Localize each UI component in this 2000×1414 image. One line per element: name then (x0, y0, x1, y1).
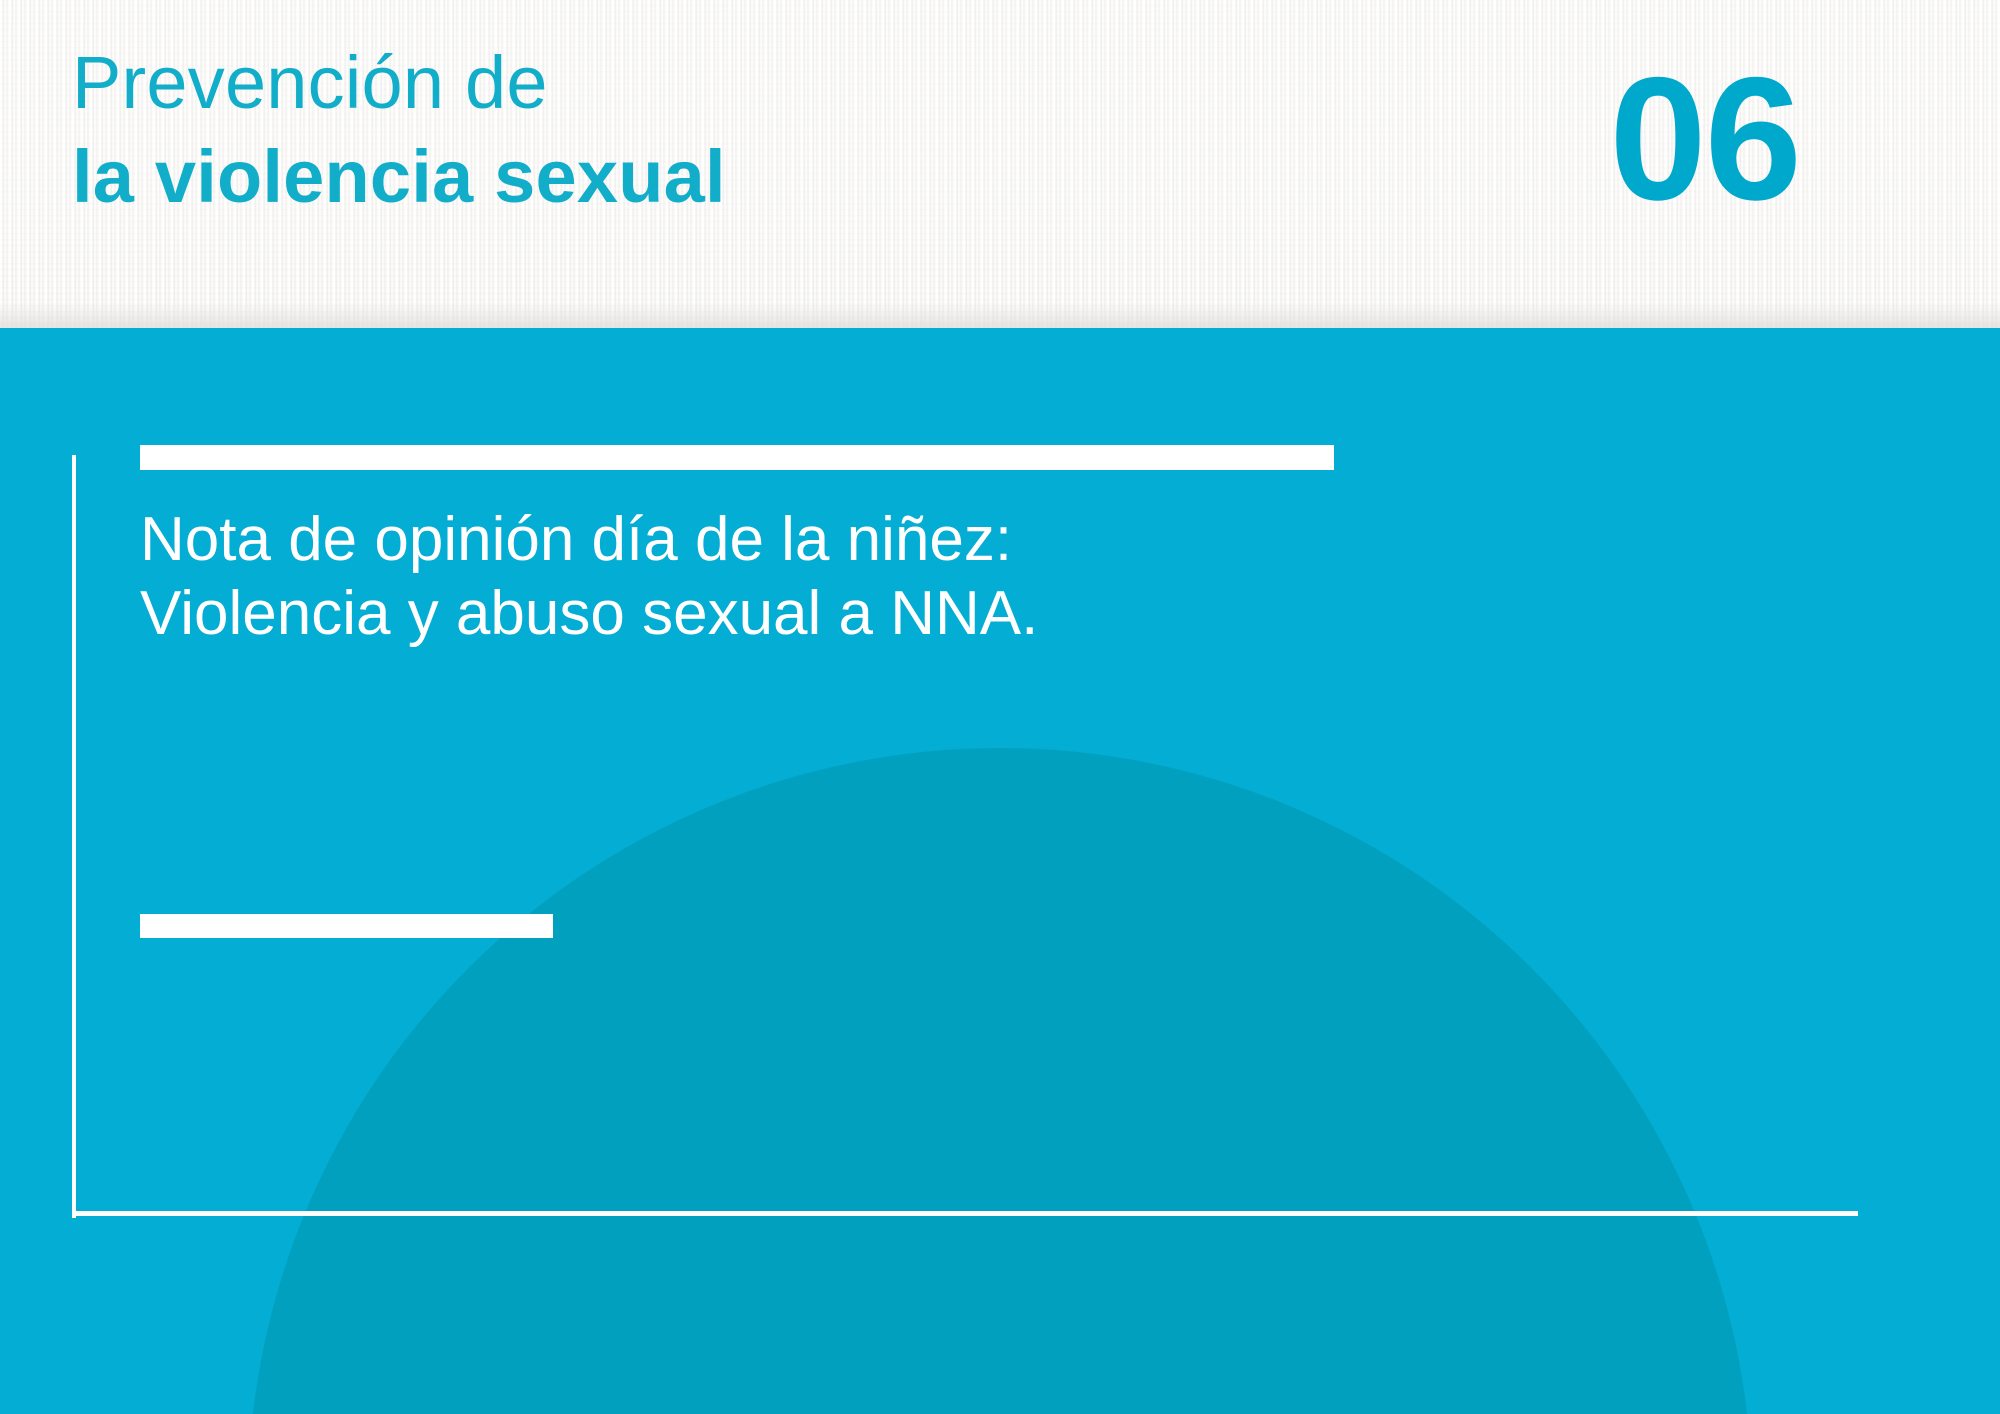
title-line-1: Prevención de (72, 46, 726, 120)
header-band: Prevención de la violencia sexual 06 (0, 0, 2000, 328)
title-line-2: la violencia sexual (72, 140, 726, 214)
page-title: Prevención de la violencia sexual (72, 46, 726, 214)
body-text-line-1: Nota de opinión día de la niñez: (140, 503, 1038, 577)
frame-horizontal-line (72, 1211, 1858, 1216)
header-bottom-fade (0, 302, 2000, 328)
slide-root: Prevención de la violencia sexual 06 Not… (0, 0, 2000, 1414)
body-text-block: Nota de opinión día de la niñez: Violenc… (140, 503, 1038, 652)
rule-top-bar (140, 445, 1334, 470)
frame-vertical-line (72, 455, 76, 1218)
section-number: 06 (1609, 52, 1800, 227)
content-panel: Nota de opinión día de la niñez: Violenc… (0, 328, 2000, 1414)
body-text-line-2: Violencia y abuso sexual a NNA. (140, 577, 1038, 651)
decorative-circle (248, 748, 1752, 1414)
rule-short-bar (140, 914, 553, 938)
